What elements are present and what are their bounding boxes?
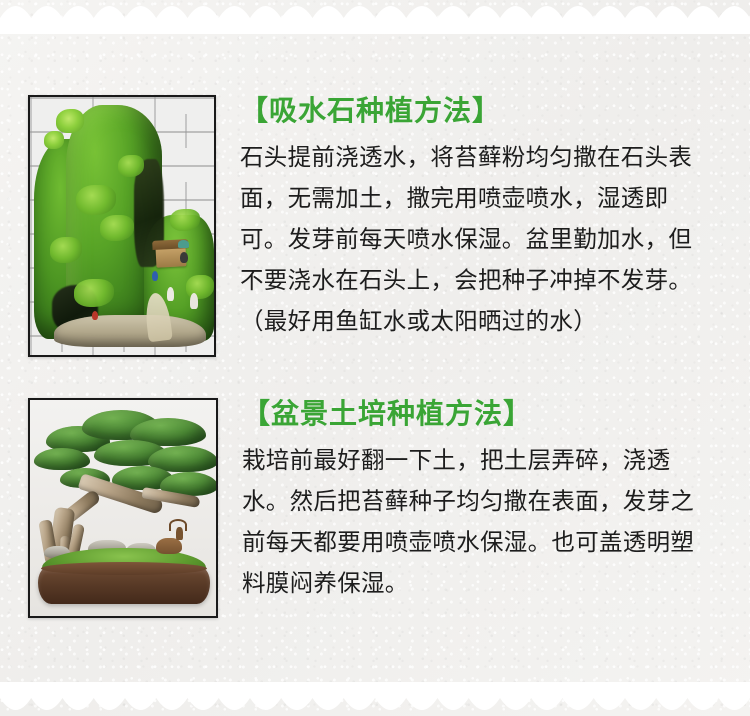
deer-figurine [156, 538, 182, 554]
bonsai-soil-text: 【盆景土培种植方法】 栽培前最好翻一下土，把土层弄碎，浇透 水。然后把苔藓种子均… [242, 398, 738, 604]
bonsai-pot [38, 568, 210, 604]
absorbent-stone-text: 【吸水石种植方法】 石头提前浇透水，将苔藓粉均匀撒在石头表 面，无需加土，撒完用… [240, 95, 736, 342]
section-one-line-4: 不要浇水在石头上，会把种子冲掉不发芽。 [240, 260, 736, 301]
section-one-heading: 【吸水石种植方法】 [240, 95, 736, 126]
fern-middle [76, 185, 116, 215]
miniature-figure-white-2 [190, 293, 198, 309]
section-one-line-2: 面，无需加土，撒完用喷壶喷水，湿透即 [240, 178, 736, 219]
scalloped-top-edge [0, 0, 750, 34]
fern-lower-left [74, 279, 114, 307]
moss-rock-photo [28, 95, 216, 357]
miniature-figure-teal [178, 240, 189, 248]
section-two-heading: 【盆景土培种植方法】 [242, 398, 738, 429]
canopy-left-lower [34, 448, 90, 470]
miniature-figure-white [167, 287, 174, 301]
section-two-line-1: 栽培前最好翻一下土，把土层弄碎，浇透 [242, 440, 738, 481]
fern-upper [118, 155, 144, 177]
fern-left [50, 237, 82, 263]
scalloped-bottom-edge [0, 682, 750, 716]
instruction-page: 【吸水石种植方法】 石头提前浇透水，将苔藓粉均匀撒在石头表 面，无需加土，撒完用… [0, 0, 750, 716]
sprig-upper-left [44, 131, 64, 149]
fern-right [170, 209, 200, 231]
section-two-line-2: 水。然后把苔藓种子均匀撒在表面，发芽之 [242, 481, 738, 522]
section-bonsai-soil: 【盆景土培种植方法】 栽培前最好翻一下土，把土层弄碎，浇透 水。然后把苔藓种子均… [0, 398, 738, 618]
section-one-line-3: 可。发芽前每天喷水保湿。盆里勤加水，但 [240, 219, 736, 260]
section-one-line-1: 石头提前浇透水，将苔藓粉均匀撒在石头表 [240, 137, 736, 178]
section-two-line-4: 料膜闷养保湿。 [242, 563, 738, 604]
section-absorbent-stone: 【吸水石种植方法】 石头提前浇透水，将苔藓粉均匀撒在石头表 面，无需加土，撒完用… [0, 95, 736, 357]
miniature-figure-red [92, 311, 98, 320]
miniature-figure-blue [152, 271, 158, 281]
section-two-line-3: 前每天都要用喷壶喷水保湿。也可盖透明塑 [242, 522, 738, 563]
miniature-figure-dark [180, 252, 188, 263]
stone-base [54, 315, 206, 347]
sprig-top-left [56, 109, 84, 133]
fern-center [100, 215, 134, 241]
bonsai-photo [28, 398, 218, 618]
section-one-line-5: （最好用鱼缸水或太阳晒过的水） [240, 301, 736, 342]
